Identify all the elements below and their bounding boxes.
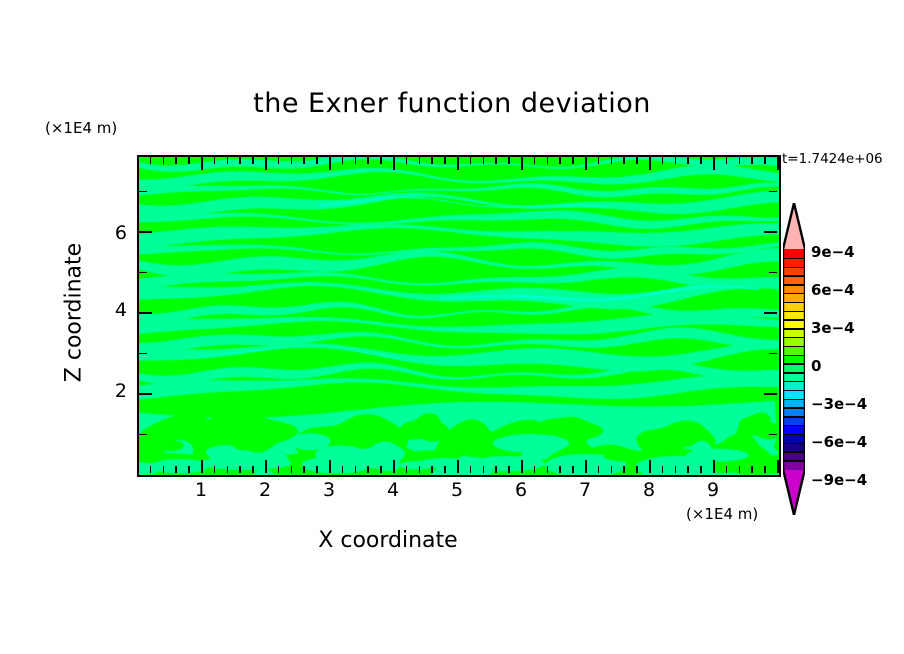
colorbar-band-divider <box>783 460 805 461</box>
tick-mark <box>572 466 574 473</box>
tick-mark <box>483 157 485 164</box>
tick-mark <box>406 157 408 164</box>
timestamp-annotation: t=1.7424e+06 <box>782 151 883 167</box>
tick-mark <box>329 157 331 170</box>
tick-mark <box>201 157 203 170</box>
tick-mark <box>265 157 267 170</box>
x-tick-label: 9 <box>698 479 728 501</box>
x-tick-label: 3 <box>314 479 344 501</box>
tick-mark <box>367 466 369 473</box>
contour-plot-area <box>137 155 781 477</box>
colorbar-band-divider <box>783 443 805 444</box>
colorbar-band-divider <box>783 390 805 391</box>
tick-mark <box>188 466 190 473</box>
tick-mark <box>764 466 766 473</box>
colorbar-band-divider <box>783 275 805 276</box>
colorbar-tick-label: −3e−4 <box>811 395 867 413</box>
tick-mark <box>214 157 216 164</box>
colorbar-band-divider <box>783 337 805 338</box>
tick-mark <box>406 466 408 473</box>
tick-mark <box>534 157 536 164</box>
colorbar-band-divider <box>783 381 805 382</box>
tick-mark <box>483 466 485 473</box>
tick-mark <box>470 466 472 473</box>
tick-mark <box>598 157 600 164</box>
tick-mark <box>739 466 741 473</box>
tick-mark <box>777 157 779 170</box>
tick-mark <box>265 460 267 473</box>
tick-mark <box>291 466 293 473</box>
colorbar-tick-label: 6e−4 <box>811 281 855 299</box>
colorbar-band-divider <box>783 293 805 294</box>
tick-mark <box>367 157 369 164</box>
tick-mark <box>769 353 777 355</box>
y-tick-label: 6 <box>101 222 127 244</box>
tick-mark <box>163 157 165 164</box>
tick-mark <box>444 157 446 164</box>
tick-mark <box>649 157 651 170</box>
colorbar <box>783 203 805 515</box>
colorbar-band-divider <box>783 346 805 347</box>
tick-mark <box>188 157 190 164</box>
tick-mark <box>764 393 777 395</box>
colorbar-band-divider <box>783 258 805 259</box>
tick-mark <box>239 157 241 164</box>
colorbar-band-divider <box>783 267 805 268</box>
colorbar-band-divider <box>783 355 805 356</box>
tick-mark <box>278 466 280 473</box>
chart-title: the Exner function deviation <box>0 88 904 119</box>
colorbar-band-divider <box>783 319 805 320</box>
tick-mark <box>623 157 625 164</box>
colorbar-band-divider <box>783 311 805 312</box>
tick-mark <box>355 466 357 473</box>
tick-mark <box>521 157 523 170</box>
tick-mark <box>649 460 651 473</box>
tick-mark <box>769 272 777 274</box>
colorbar-tick-label: 9e−4 <box>811 243 855 261</box>
tick-mark <box>457 460 459 473</box>
tick-mark <box>214 466 216 473</box>
tick-mark <box>623 466 625 473</box>
colorbar-tick-label: −6e−4 <box>811 433 867 451</box>
tick-mark <box>547 157 549 164</box>
colorbar-band-divider <box>783 328 805 329</box>
x-axis-unit-label: (×1E4 m) <box>686 505 758 523</box>
tick-mark <box>769 434 777 436</box>
tick-mark <box>431 157 433 164</box>
tick-mark <box>687 466 689 473</box>
tick-mark <box>457 157 459 170</box>
tick-mark <box>316 466 318 473</box>
tick-mark <box>303 466 305 473</box>
tick-mark <box>508 466 510 473</box>
x-tick-label: 8 <box>634 479 664 501</box>
tick-mark <box>380 466 382 473</box>
tick-mark <box>291 157 293 164</box>
tick-mark <box>572 157 574 164</box>
tick-mark <box>495 466 497 473</box>
colorbar-over-arrow <box>783 203 805 249</box>
colorbar-band-divider <box>783 407 805 408</box>
tick-mark <box>521 460 523 473</box>
y-tick-label: 2 <box>101 380 127 402</box>
x-axis-title: X coordinate <box>0 528 776 553</box>
tick-mark <box>726 157 728 164</box>
tick-mark <box>777 460 779 473</box>
tick-mark <box>431 466 433 473</box>
tick-mark <box>585 157 587 170</box>
colorbar-band-divider <box>783 425 805 426</box>
tick-mark <box>559 466 561 473</box>
x-tick-label: 5 <box>442 479 472 501</box>
tick-mark <box>764 157 766 164</box>
colorbar-band-divider <box>783 363 805 364</box>
tick-mark <box>355 157 357 164</box>
tick-mark <box>769 191 777 193</box>
tick-mark <box>139 393 152 395</box>
tick-mark <box>419 466 421 473</box>
tick-mark <box>675 157 677 164</box>
tick-mark <box>139 272 147 274</box>
colorbar-band-divider <box>783 416 805 417</box>
tick-mark <box>585 460 587 473</box>
tick-mark <box>139 312 152 314</box>
colorbar-band-divider <box>783 399 805 400</box>
tick-mark <box>547 466 549 473</box>
tick-mark <box>139 191 147 193</box>
tick-mark <box>150 157 152 164</box>
colorbar-tick-label: −9e−4 <box>811 471 867 489</box>
tick-mark <box>252 157 254 164</box>
y-axis-title: Z coordinate <box>62 213 87 413</box>
tick-mark <box>419 157 421 164</box>
tick-mark <box>764 312 777 314</box>
tick-mark <box>139 353 147 355</box>
tick-mark <box>611 157 613 164</box>
x-tick-label: 2 <box>250 479 280 501</box>
x-tick-label: 6 <box>506 479 536 501</box>
tick-mark <box>342 466 344 473</box>
tick-mark <box>470 157 472 164</box>
tick-mark <box>636 466 638 473</box>
tick-mark <box>150 466 152 473</box>
tick-mark <box>559 157 561 164</box>
tick-mark <box>316 157 318 164</box>
tick-mark <box>329 460 331 473</box>
tick-mark <box>508 157 510 164</box>
x-tick-label: 4 <box>378 479 408 501</box>
tick-mark <box>675 466 677 473</box>
tick-mark <box>751 466 753 473</box>
tick-mark <box>139 434 147 436</box>
tick-mark <box>751 157 753 164</box>
tick-mark <box>175 466 177 473</box>
y-tick-label: 4 <box>101 299 127 321</box>
tick-mark <box>252 466 254 473</box>
colorbar-tick-label: 3e−4 <box>811 319 855 337</box>
tick-mark <box>303 157 305 164</box>
colorbar-band-divider <box>783 372 805 373</box>
tick-mark <box>175 157 177 164</box>
contour-field <box>139 157 779 475</box>
colorbar-band-divider <box>783 434 805 435</box>
tick-mark <box>598 466 600 473</box>
tick-mark <box>239 466 241 473</box>
tick-mark <box>227 157 229 164</box>
tick-mark <box>662 466 664 473</box>
tick-mark <box>139 231 152 233</box>
colorbar-band <box>783 460 805 469</box>
colorbar-tick-label: 0 <box>811 357 821 375</box>
tick-mark <box>700 157 702 164</box>
tick-mark <box>662 157 664 164</box>
tick-mark <box>713 460 715 473</box>
colorbar-band-divider <box>783 302 805 303</box>
tick-mark <box>739 157 741 164</box>
tick-mark <box>636 157 638 164</box>
colorbar-band-divider <box>783 451 805 452</box>
tick-mark <box>726 466 728 473</box>
tick-mark <box>444 466 446 473</box>
x-tick-label: 7 <box>570 479 600 501</box>
tick-mark <box>713 157 715 170</box>
tick-mark <box>764 231 777 233</box>
tick-mark <box>163 466 165 473</box>
tick-mark <box>278 157 280 164</box>
colorbar-under-arrow <box>783 469 805 515</box>
tick-mark <box>534 466 536 473</box>
tick-mark <box>687 157 689 164</box>
x-tick-label: 1 <box>186 479 216 501</box>
tick-mark <box>393 157 395 170</box>
tick-mark <box>495 157 497 164</box>
tick-mark <box>227 466 229 473</box>
tick-mark <box>611 466 613 473</box>
y-axis-unit-label: (×1E4 m) <box>45 119 117 137</box>
colorbar-band-divider <box>783 284 805 285</box>
tick-mark <box>700 466 702 473</box>
tick-mark <box>393 460 395 473</box>
tick-mark <box>201 460 203 473</box>
tick-mark <box>342 157 344 164</box>
tick-mark <box>380 157 382 164</box>
